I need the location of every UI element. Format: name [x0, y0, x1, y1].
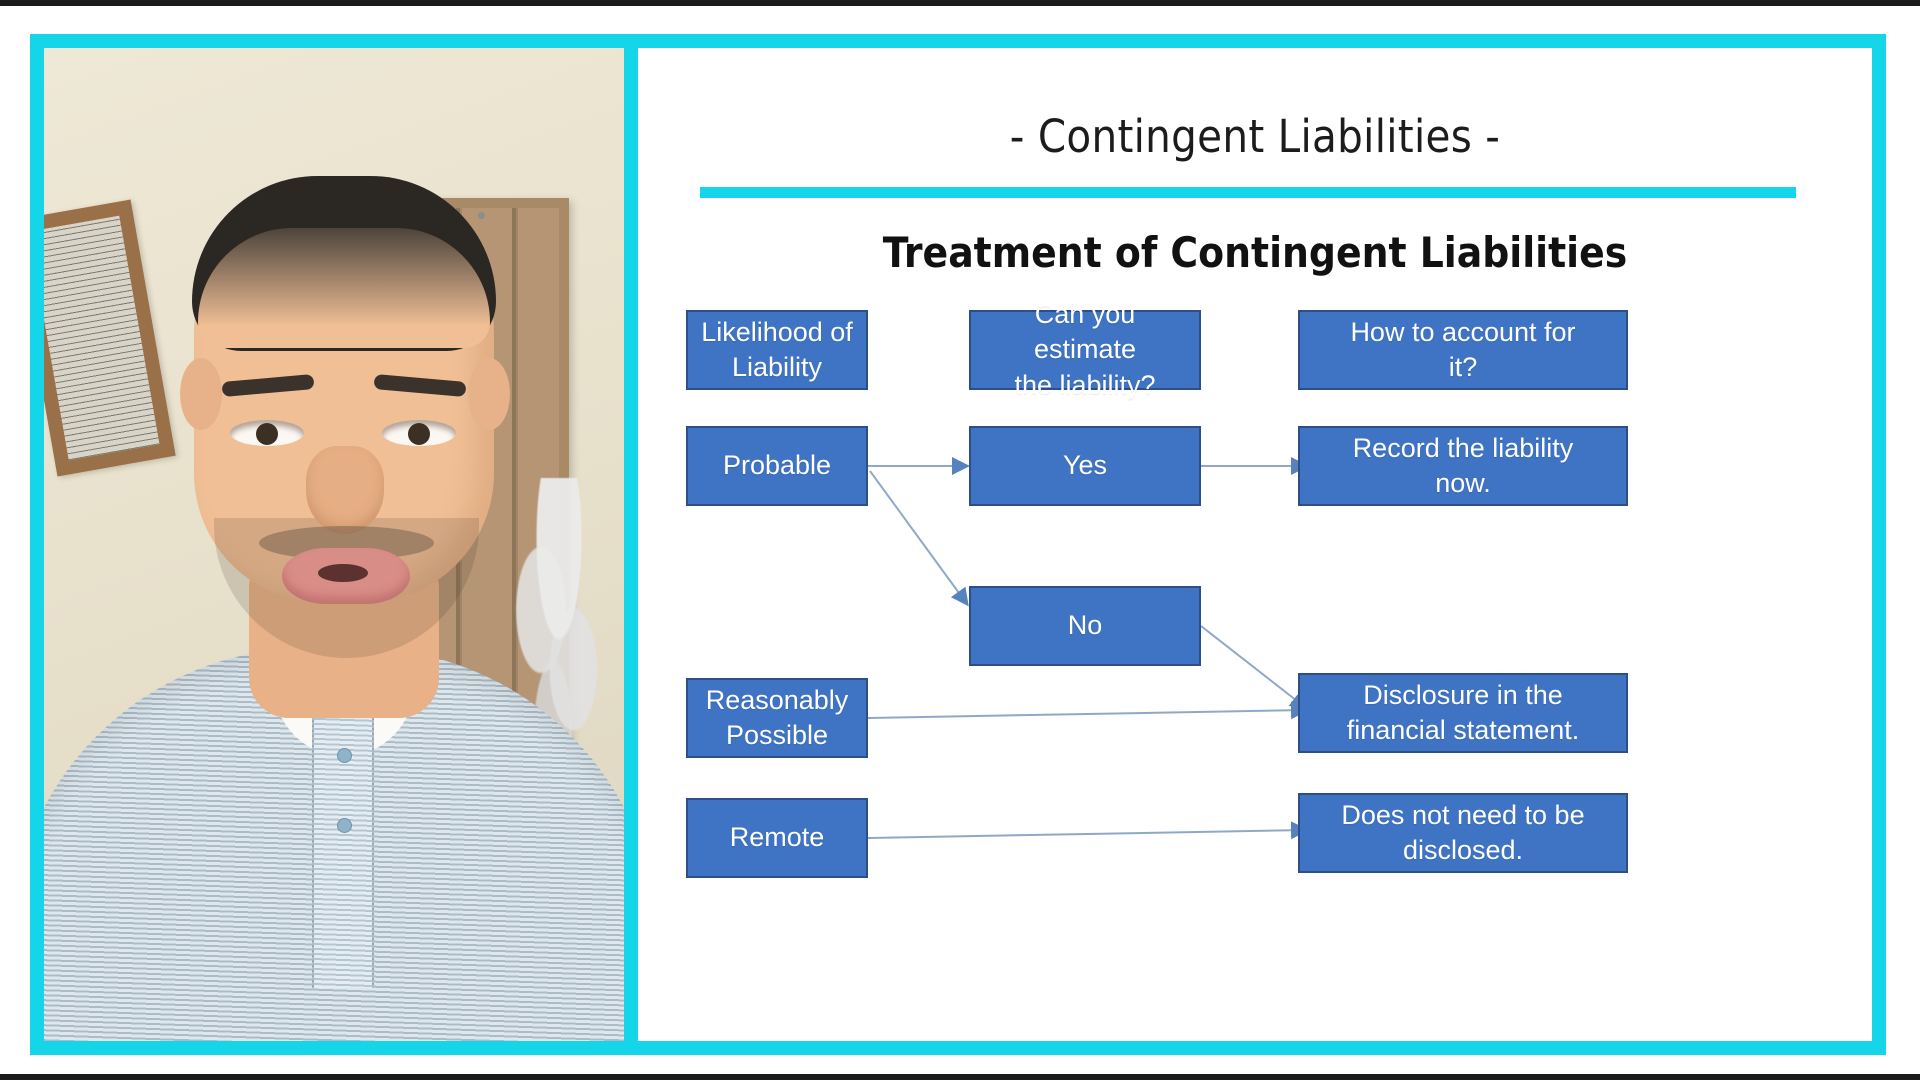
- presenter-person: [44, 48, 624, 1041]
- header-estimate-line2: the liability?: [1014, 370, 1155, 400]
- flowchart-connectors: [638, 48, 1872, 1041]
- reasonably-possible-line2: Possible: [726, 720, 828, 750]
- flow-node-record-liability[interactable]: Record the liability now.: [1298, 426, 1628, 506]
- presenter-ear-right: [468, 358, 510, 430]
- slide-root: - Contingent Liabilities - Treatment of …: [0, 0, 1920, 1080]
- shirt-placket: [312, 688, 374, 988]
- flow-node-no[interactable]: No: [969, 586, 1201, 666]
- record-liability-line2: now.: [1435, 468, 1491, 498]
- cyan-frame-top: [30, 34, 1886, 48]
- header-likelihood-line2: Liability: [732, 352, 822, 382]
- presenter-pupil-left: [256, 423, 278, 445]
- presenter-pupil-right: [408, 423, 430, 445]
- flow-node-reasonably-possible[interactable]: Reasonably Possible: [686, 678, 868, 758]
- flow-node-probable[interactable]: Probable: [686, 426, 868, 506]
- cyan-frame-left: [30, 34, 44, 1055]
- flow-node-not-disclosed[interactable]: Does not need to be disclosed.: [1298, 793, 1628, 873]
- header-likelihood-line1: Likelihood of: [701, 317, 853, 347]
- contingent-liabilities-flowchart: Likelihood of Liability Can you estimate…: [638, 48, 1872, 1041]
- header-estimate-line1: Can you estimate: [1034, 299, 1136, 364]
- not-disclosed-line1: Does not need to be: [1341, 800, 1584, 830]
- shirt-button: [337, 748, 352, 763]
- presenter-ear-left: [180, 358, 222, 430]
- flow-node-yes[interactable]: Yes: [969, 426, 1201, 506]
- header-account-line2: it?: [1449, 352, 1478, 382]
- not-disclosed-line2: disclosed.: [1403, 835, 1523, 865]
- disclosure-line2: financial statement.: [1347, 715, 1580, 745]
- presenter-mouth: [282, 548, 410, 604]
- flow-node-disclosure[interactable]: Disclosure in the financial statement.: [1298, 673, 1628, 753]
- webcam-panel: [44, 48, 624, 1041]
- flow-header-likelihood[interactable]: Likelihood of Liability: [686, 310, 868, 390]
- cyan-frame-divider: [624, 34, 638, 1055]
- header-account-line1: How to account for: [1350, 317, 1575, 347]
- cyan-frame-right: [1872, 34, 1886, 1055]
- presenter-nose: [306, 446, 384, 534]
- reasonably-possible-line1: Reasonably: [706, 685, 849, 715]
- flow-header-account[interactable]: How to account for it?: [1298, 310, 1628, 390]
- presenter-webcam-video: [44, 48, 624, 1041]
- slide-panel: - Contingent Liabilities - Treatment of …: [638, 48, 1872, 1041]
- flow-node-remote[interactable]: Remote: [686, 798, 868, 878]
- disclosure-line1: Disclosure in the: [1363, 680, 1563, 710]
- flow-header-estimate[interactable]: Can you estimate the liability?: [969, 310, 1201, 390]
- record-liability-line1: Record the liability: [1353, 433, 1574, 463]
- cyan-frame-bottom: [30, 1041, 1886, 1055]
- shirt-button: [337, 818, 352, 833]
- presenter-hair: [192, 176, 496, 351]
